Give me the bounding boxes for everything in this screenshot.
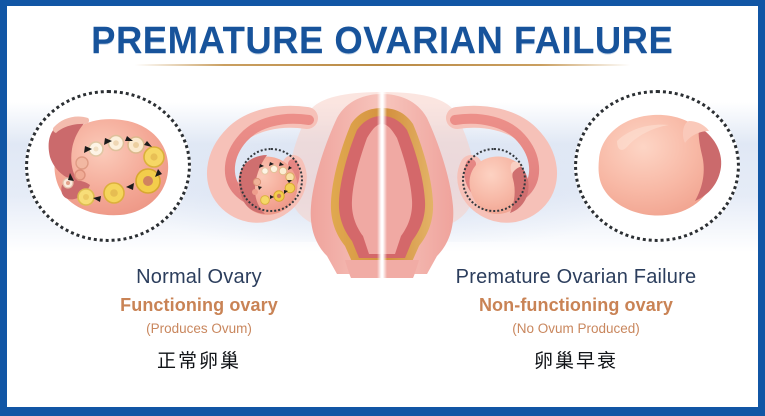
left-note: (Produces Ovum) (29, 319, 369, 339)
right-subtitle: Non-functioning ovary (406, 292, 746, 318)
right-heading: Premature Ovarian Failure (406, 264, 746, 290)
label-column-left: Normal Ovary Functioning ovary (Produces… (29, 264, 369, 374)
poster-frame: PREMATURE OVARIAN FAILURE (0, 0, 765, 416)
normal-ovary-illustration (28, 93, 188, 239)
callout-circle-small-right (462, 148, 526, 212)
callout-circle-small-left (239, 148, 303, 212)
label-column-right: Premature Ovarian Failure Non-functionin… (406, 264, 746, 374)
left-chinese-label: 正常卵巢 (29, 348, 369, 374)
title-underline-rule (135, 64, 630, 66)
left-subtitle: Functioning ovary (29, 292, 369, 318)
callout-failed-ovary (574, 90, 740, 242)
page-title: PREMATURE OVARIAN FAILURE (91, 20, 673, 63)
left-heading: Normal Ovary (29, 264, 369, 290)
title-block: PREMATURE OVARIAN FAILURE (7, 20, 758, 63)
callout-normal-ovary (25, 90, 191, 242)
failed-ovary-illustration (577, 93, 737, 239)
poster-canvas: PREMATURE OVARIAN FAILURE (7, 6, 758, 407)
right-note: (No Ovum Produced) (406, 319, 746, 339)
right-chinese-label: 卵巢早衰 (406, 348, 746, 374)
illustration-stage (7, 78, 758, 278)
